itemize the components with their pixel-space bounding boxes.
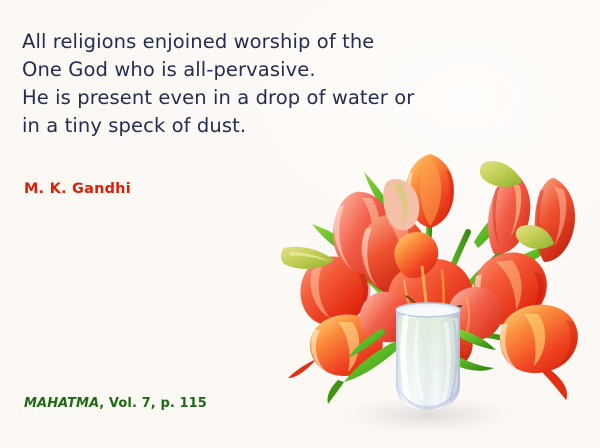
tulip-far-right-lower xyxy=(500,305,578,400)
quote-poster: All religions enjoined worship of the On… xyxy=(0,0,600,448)
quote-line-3: He is present even in a drop of water or xyxy=(22,84,492,112)
glass-vase xyxy=(396,303,460,410)
source-title: MAHATMA xyxy=(24,396,99,411)
source-reference: , Vol. 7, p. 115 xyxy=(99,396,207,411)
bud-upper-green xyxy=(480,161,522,187)
source-citation: MAHATMA, Vol. 7, p. 115 xyxy=(24,396,207,411)
author-attribution: M. K. Gandhi xyxy=(24,181,131,197)
quote-line-2: One God who is all-pervasive. xyxy=(22,56,492,84)
quote-block: All religions enjoined worship of the On… xyxy=(22,28,492,140)
bouquet-illustration xyxy=(278,132,588,438)
tulip-far-right-upper xyxy=(535,178,575,262)
quote-line-1: All religions enjoined worship of the xyxy=(22,28,492,56)
